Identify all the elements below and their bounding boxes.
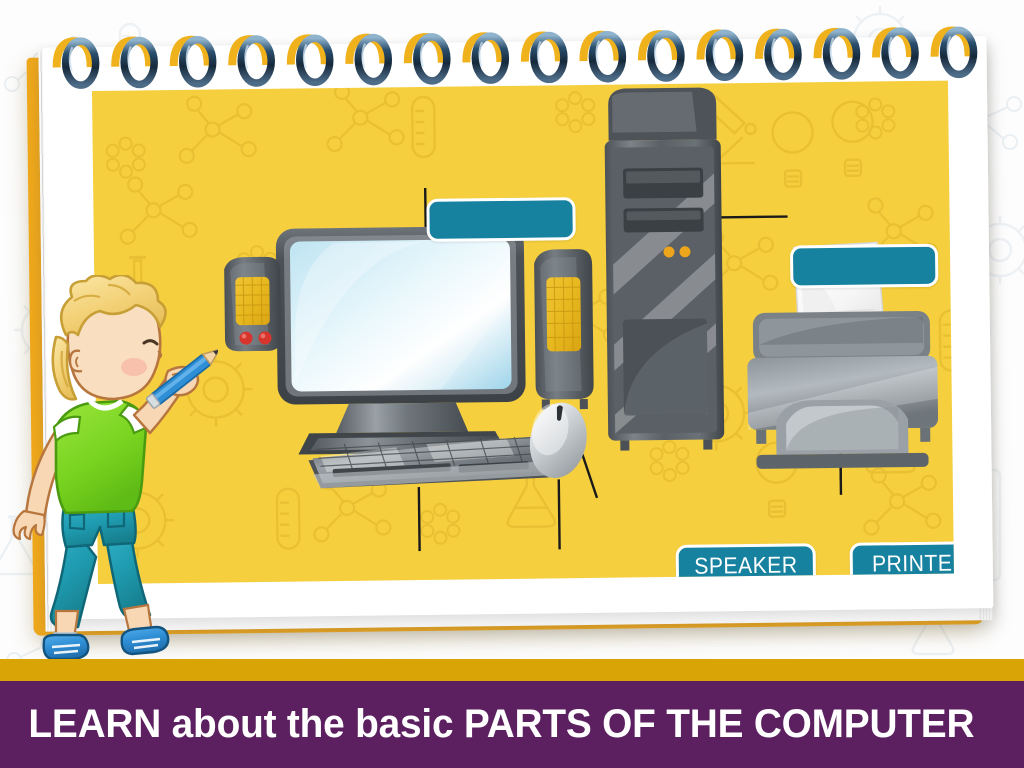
spiral-ring bbox=[525, 35, 565, 79]
label-chip-text: PRINTER bbox=[872, 551, 954, 575]
label-chip-monitor[interactable] bbox=[426, 197, 576, 242]
spiral-ring bbox=[583, 35, 623, 79]
gold-divider-strip bbox=[0, 659, 1024, 681]
label-chip-cpu[interactable] bbox=[790, 244, 939, 289]
spiral-ring bbox=[173, 40, 213, 84]
spiral-ring bbox=[408, 37, 448, 81]
spiral-ring bbox=[759, 32, 799, 76]
label-chips-layer: SPEAKERPRINTERKEYBOARD bbox=[92, 81, 954, 584]
spiral-ring bbox=[876, 31, 916, 75]
spiral-ring bbox=[232, 39, 272, 83]
spiral-ring bbox=[642, 34, 682, 78]
boy-with-pencil-illustration bbox=[8, 275, 218, 665]
slide-canvas: SPEAKERPRINTERKEYBOARD bbox=[0, 0, 1024, 768]
bottom-banner: LEARN about the basic PARTS OF THE COMPU… bbox=[0, 681, 1024, 768]
spiral-binding bbox=[18, 10, 984, 92]
banner-title: LEARN about the basic PARTS OF THE COMPU… bbox=[15, 702, 974, 747]
spiral-ring bbox=[115, 40, 155, 84]
spiral-ring bbox=[817, 32, 857, 76]
spiral-ring bbox=[290, 38, 330, 82]
spiral-ring bbox=[466, 36, 506, 80]
spiral-ring bbox=[349, 37, 389, 81]
worksheet: SPEAKERPRINTERKEYBOARD bbox=[92, 81, 954, 584]
spiral-ring bbox=[934, 30, 974, 74]
label-chip-text: SPEAKER bbox=[694, 553, 797, 577]
spiral-ring bbox=[700, 33, 740, 77]
spiral-ring bbox=[56, 41, 96, 85]
